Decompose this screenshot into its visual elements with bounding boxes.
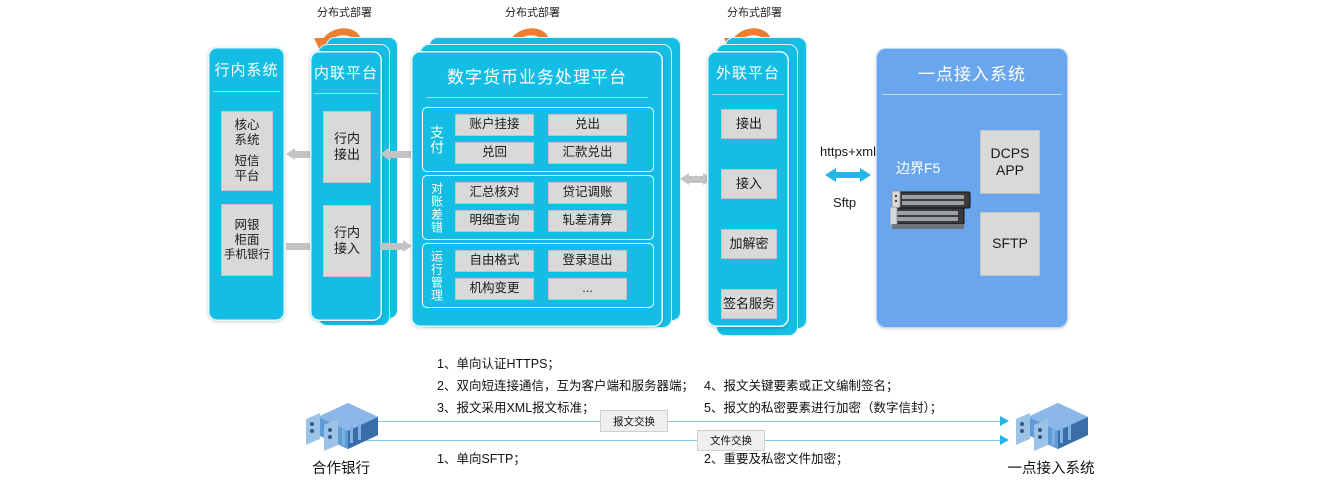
caption-distributed-external: 分布式部署 (727, 4, 782, 20)
group-operations: 运行管理 自由格式 登录退出 机构变更 ... (422, 243, 654, 308)
note-file-2: 2、重要及私密文件加密； (704, 448, 848, 467)
chip-line: 接入 (334, 241, 360, 257)
label-access-system-server: 一点接入系统 (989, 457, 1113, 478)
panel-title-intranet: 内联平台 (310, 62, 382, 83)
panel-external-platform: 外联平台 接出 接入 加解密 签名服务 (707, 51, 789, 327)
chip-line: 接出 (334, 147, 360, 163)
chip-detail-query[interactable]: 明细查询 (455, 210, 534, 232)
note-message-3: 3、报文采用XML报文标准； (437, 397, 595, 416)
label-sftp-link: Sftp (833, 195, 856, 210)
line-message-exchange (352, 421, 1002, 422)
chip-ebank-counter-mobile[interactable]: 网银 柜面 手机银行 (221, 204, 273, 276)
chip-line: 短信 (234, 154, 259, 169)
chip-line: 行内 (334, 225, 360, 241)
chip-external-outbound[interactable]: 接出 (721, 109, 777, 139)
tag-message-exchange: 报文交换 (600, 410, 668, 432)
chip-account-link[interactable]: 账户挂接 (455, 114, 534, 136)
caption-distributed-intranet: 分布式部署 (317, 4, 372, 20)
chip-signature-service[interactable]: 签名服务 (721, 289, 777, 319)
chip-external-inbound[interactable]: 接入 (721, 169, 777, 199)
label-partner-bank: 合作银行 (283, 457, 399, 478)
group-label-reconciliation: 对账差错 (426, 176, 448, 239)
panel-core-platform: 数字货币业务处理平台 支付 账户挂接 兑出 兑回 汇款兑出 对账差错 汇总核对 … (411, 51, 663, 327)
f5-device-icon (890, 190, 976, 241)
group-label-payment: 支付 (426, 108, 448, 171)
arrow-core-platform-to-intranet (380, 148, 412, 161)
panel-title-bank-internal: 行内系统 (208, 59, 285, 80)
panel-access-system: 一点接入系统 边界F5 DCPS APP SFTP (876, 48, 1068, 328)
group-payment: 支付 账户挂接 兑出 兑回 汇款兑出 (422, 107, 654, 172)
chip-sftp[interactable]: SFTP (980, 212, 1040, 276)
chip-org-change[interactable]: 机构变更 (455, 278, 534, 300)
chip-credit-adjust[interactable]: 贷记调账 (548, 182, 627, 204)
line-file-exchange (352, 440, 1002, 441)
chip-intranet-inbound[interactable]: 行内 接入 (323, 205, 371, 277)
chip-netting-settlement[interactable]: 轧差清算 (548, 210, 627, 232)
chip-line: 网银 (234, 218, 259, 233)
chip-intranet-outbound[interactable]: 行内 接出 (323, 111, 371, 183)
chip-line: 核心 (234, 118, 259, 133)
chip-dcps-app[interactable]: DCPS APP (980, 130, 1040, 194)
label-https-xml: https+xml (820, 144, 876, 159)
chip-remittance-out[interactable]: 汇款兑出 (548, 142, 627, 164)
server-icon-partner-bank (298, 399, 384, 460)
chip-free-format[interactable]: 自由格式 (455, 250, 534, 272)
note-message-2: 2、双向短连接通信，互为客户端和服务器端； (437, 375, 694, 394)
group-reconciliation: 对账差错 汇总核对 贷记调账 明细查询 轧差清算 (422, 175, 654, 240)
chip-line: 系统 (234, 133, 259, 148)
chip-core-system[interactable]: 核心 系统 短信 平台 (221, 111, 273, 191)
arrow-intranet-to-core-platform (380, 240, 412, 253)
panel-intranet-platform: 内联平台 行内 接出 行内 接入 (310, 51, 382, 321)
chip-line: APP (996, 162, 1024, 179)
server-icon-access-system (1008, 399, 1094, 460)
caption-distributed-core: 分布式部署 (505, 4, 560, 20)
note-file-1: 1、单向SFTP； (437, 448, 526, 467)
label-boundary-f5: 边界F5 (896, 158, 940, 178)
panel-bank-internal-system: 行内系统 核心 系统 短信 平台 网银 柜面 手机银行 (208, 47, 285, 321)
chip-line: 平台 (234, 169, 259, 184)
chip-summary-check[interactable]: 汇总核对 (455, 182, 534, 204)
arrow-external-to-access-system (825, 168, 871, 182)
panel-title-external: 外联平台 (707, 62, 789, 83)
chip-exchange-out[interactable]: 兑出 (548, 114, 627, 136)
chip-line: 行内 (334, 131, 360, 147)
chip-login-logout[interactable]: 登录退出 (548, 250, 627, 272)
note-message-4: 4、报文关键要素或正文编制签名； (704, 375, 898, 394)
panel-title-core-platform: 数字货币业务处理平台 (411, 63, 663, 88)
chip-encrypt-decrypt[interactable]: 加解密 (721, 229, 777, 259)
group-label-operations: 运行管理 (426, 244, 448, 307)
chip-line: 柜面 (234, 233, 259, 248)
panel-title-access-system: 一点接入系统 (876, 60, 1068, 85)
chip-line: 手机银行 (224, 248, 270, 262)
chip-more[interactable]: ... (548, 278, 627, 300)
note-message-5: 5、报文的私密要素进行加密（数字信封）； (704, 397, 942, 416)
chip-exchange-back[interactable]: 兑回 (455, 142, 534, 164)
chip-line: DCPS (991, 145, 1030, 162)
note-message-1: 1、单向认证HTTPS； (437, 353, 560, 372)
